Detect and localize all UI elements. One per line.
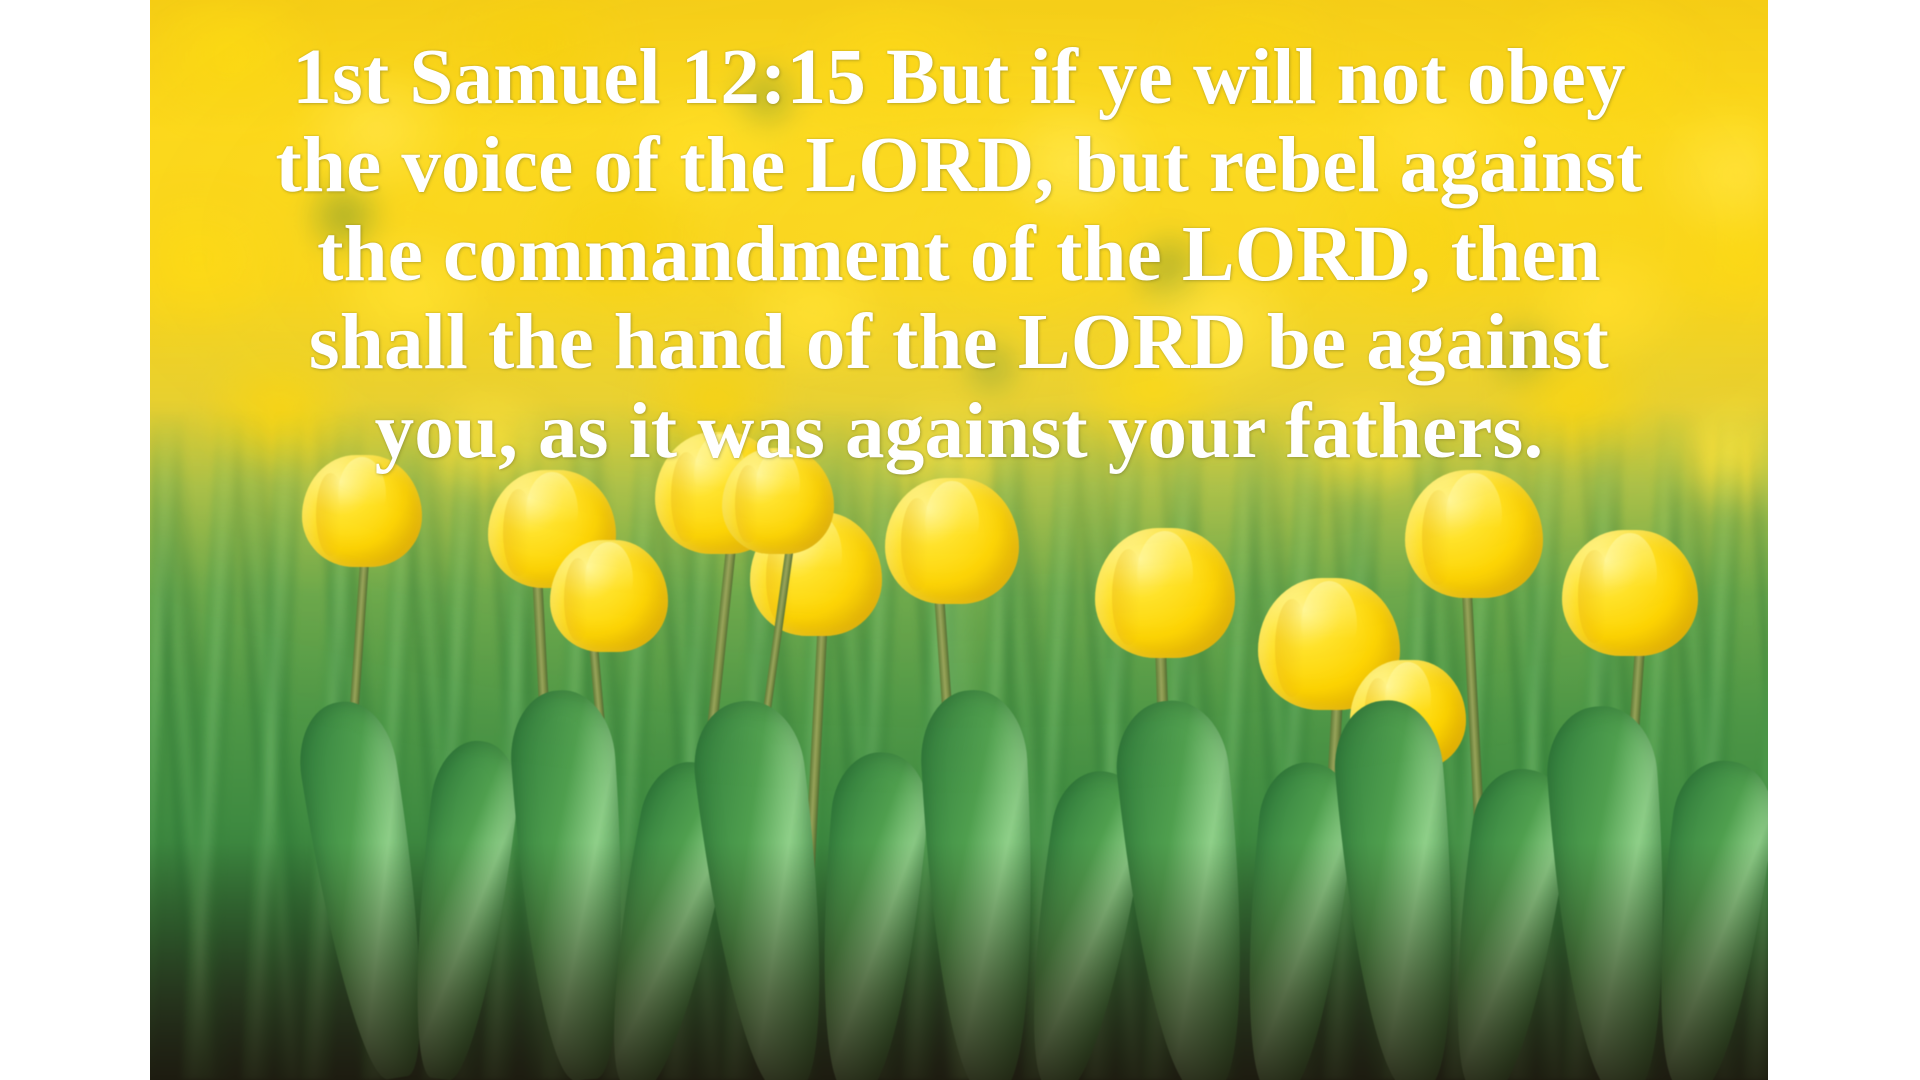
bible-verse-text: 1st Samuel 12:15 But if ye will not obey… bbox=[150, 34, 1768, 476]
screenshot-canvas: 1st Samuel 12:15 But if ye will not obey… bbox=[0, 0, 1920, 1080]
